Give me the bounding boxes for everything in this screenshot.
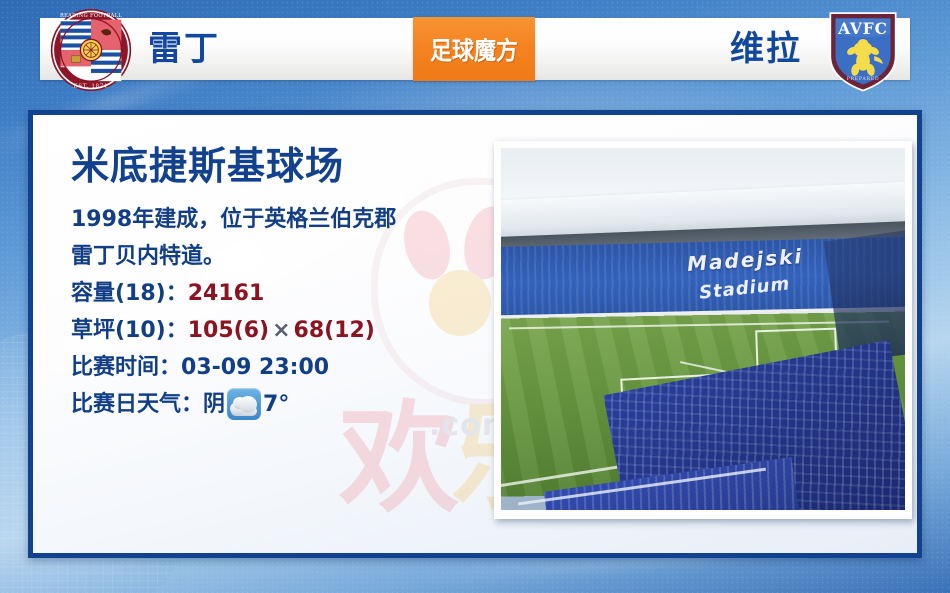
- weather-condition: 阴: [203, 386, 225, 423]
- pitch-size-row: 草坪(10)： 105(6) × 68(12): [71, 312, 491, 349]
- pitch-width-value: 68(12): [294, 312, 375, 349]
- weather-label: 比赛日天气：: [71, 386, 203, 423]
- home-team-name: 雷丁: [148, 27, 220, 71]
- stadium-description-line-1: 1998年建成，位于英格兰伯克郡: [71, 201, 491, 238]
- aston-villa-crest-icon: AVFC PREPARED: [820, 8, 906, 94]
- svg-text:EST. 1871: EST. 1871: [74, 84, 109, 90]
- match-time-label: 比赛时间：: [71, 349, 181, 386]
- stadium-photo-frame[interactable]: Madejski Stadium: [494, 141, 912, 519]
- svg-text:READING FOOTBALL: READING FOOTBALL: [60, 13, 122, 19]
- away-team-name: 维拉: [730, 27, 802, 71]
- svg-text:PREPARED: PREPARED: [847, 76, 880, 82]
- svg-text:AVFC: AVFC: [837, 19, 888, 38]
- capacity-label: 容量(18)：: [71, 275, 188, 312]
- madejski-stadium-photo: Madejski Stadium: [501, 148, 905, 510]
- weather-temperature: 7°: [263, 386, 289, 423]
- brand-logo[interactable]: 足球魔方: [413, 17, 535, 81]
- match-time-row: 比赛时间： 03-09 23:00: [71, 349, 491, 386]
- description-text-2: 雷丁贝内特道。: [71, 238, 225, 275]
- match-stadium-card: 雷丁 维拉 足球魔方: [0, 0, 950, 593]
- stadium-info-panel: 欢 乐 .com 米底捷斯基球场 1998年建成，位于英格兰伯克郡 雷丁贝内特道…: [28, 110, 922, 558]
- description-text-1: 1998年建成，位于英格兰伯克郡: [71, 201, 396, 238]
- stadium-description-line-2: 雷丁贝内特道。: [71, 238, 491, 275]
- reading-fc-crest-icon: READING FOOTBALL EST. 1871: [50, 8, 132, 92]
- stadium-title: 米底捷斯基球场: [71, 145, 491, 189]
- weather-row: 比赛日天气： 阴 7°: [71, 386, 491, 423]
- stadium-info-column: 米底捷斯基球场 1998年建成，位于英格兰伯克郡 雷丁贝内特道。 容量(18)：…: [71, 145, 491, 423]
- match-time-value: 03-09 23:00: [181, 349, 329, 386]
- cloudy-icon: [227, 388, 261, 420]
- brand-logo-label: 足球魔方: [430, 31, 518, 67]
- capacity-row: 容量(18)： 24161: [71, 275, 491, 312]
- pitch-label: 草坪(10)：: [71, 312, 188, 349]
- pitch-length-value: 105(6): [188, 312, 269, 349]
- capacity-value: 24161: [188, 275, 265, 312]
- pitch-times-sign: ×: [269, 312, 293, 349]
